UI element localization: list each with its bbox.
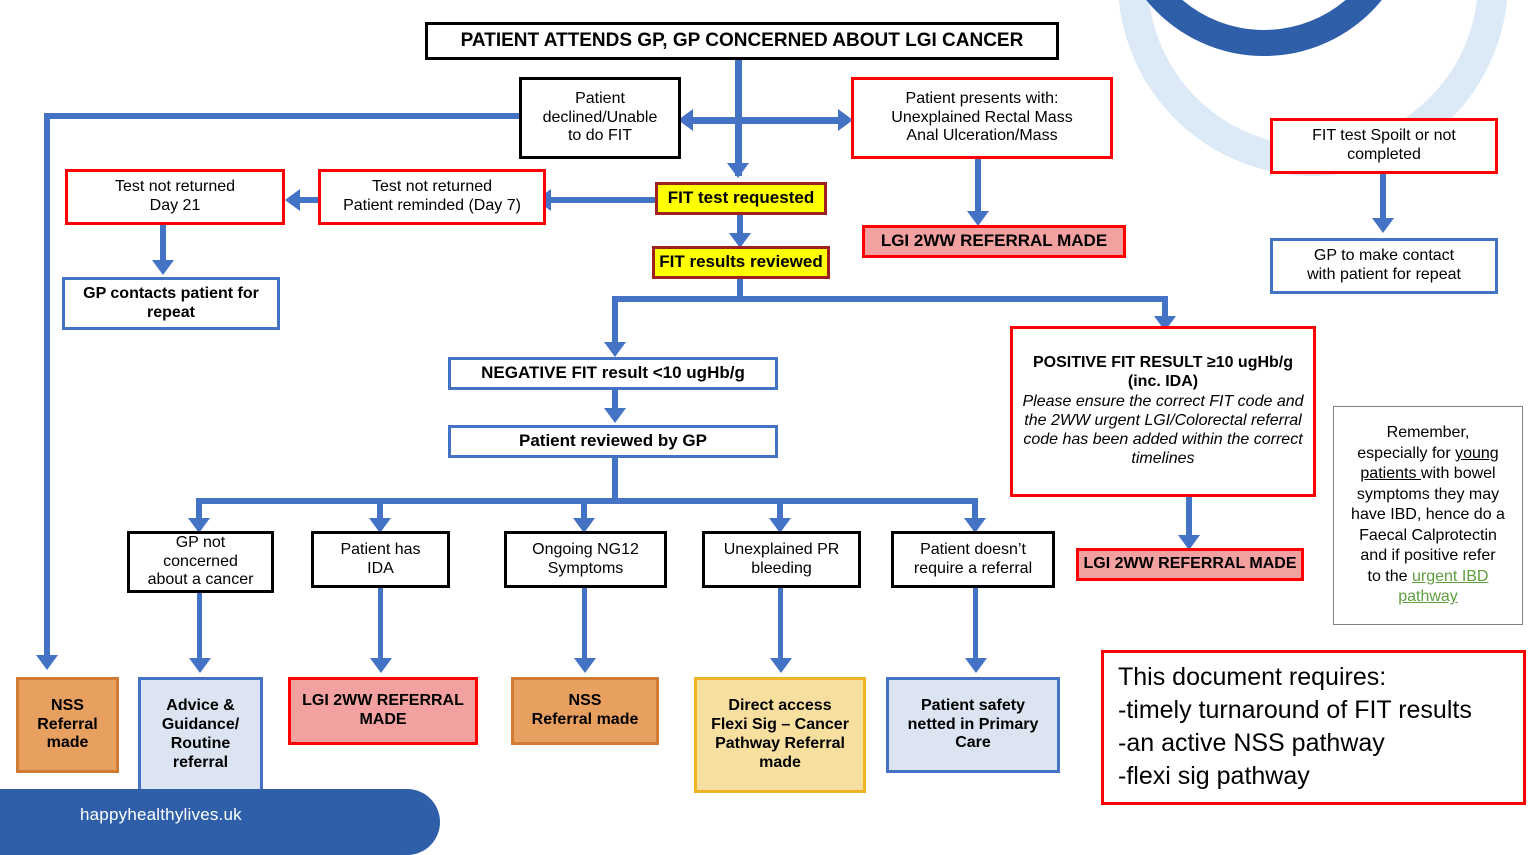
connector-presents-down (975, 159, 981, 215)
node-test-not-returned-day21[interactable]: Test not returned Day 21 (65, 169, 285, 225)
node-patient-presents-label: Patient presents with: Unexplained Recta… (854, 90, 1110, 147)
node-lgi-2ww-bottom-label: LGI 2WW REFERRAL MADE (291, 692, 475, 730)
connector-no-referral-down (973, 587, 978, 662)
remember-line8-pre: to the (1368, 568, 1412, 585)
urgent-ibd-pathway-link-cont[interactable]: pathway (1398, 588, 1458, 605)
node-flexi-sig-referral[interactable]: Direct access Flexi Sig – Cancer Pathway… (694, 677, 866, 793)
note-remember-text: Remember, especially for young patients … (1334, 423, 1522, 607)
remember-young-underline: young (1455, 445, 1499, 462)
node-nss-referral-left-label: NSS Referral made (19, 697, 116, 754)
node-test-not-returned-day21-label: Test not returned Day 21 (68, 178, 282, 216)
node-fit-results-reviewed-label: FIT results reviewed (655, 252, 827, 272)
connector-declined-left (47, 113, 525, 119)
remember-line6: Faecal Calprotectin (1359, 527, 1497, 544)
arrow-presents-to-lgi2ww (967, 211, 989, 226)
requires-item-0: -timely turnaround of FIT results (1118, 694, 1523, 727)
remember-patients-underline: patients (1360, 465, 1420, 482)
footer-site-label: happyhealthylives.uk (80, 805, 242, 825)
connector-positive-down (1186, 497, 1192, 539)
arrow-to-nss-mid (574, 658, 596, 673)
arrow-to-patient-safety (965, 658, 987, 673)
node-advice-guidance-label: Advice & Guidance/ Routine referral (141, 697, 260, 773)
connector-junction-horizontal (690, 117, 845, 124)
node-patient-declined-label: Patient declined/Unable to do FIT (522, 90, 678, 147)
arrow-to-nss-left (36, 655, 58, 670)
arrow-to-day21-box (285, 189, 300, 211)
connector-ida-down (378, 587, 383, 662)
remember-line5: have IBD, hence do a (1351, 506, 1505, 523)
node-lgi-2ww-bottom[interactable]: LGI 2WW REFERRAL MADE (288, 677, 478, 745)
connector-left-vertical (44, 113, 50, 661)
node-patient-has-ida[interactable]: Patient has IDA (311, 531, 450, 588)
node-ongoing-ng12-label: Ongoing NG12 Symptoms (507, 541, 664, 579)
connector-ng12-down (582, 587, 587, 662)
node-nss-referral-left[interactable]: NSS Referral made (16, 677, 119, 773)
arrow-to-flexi-sig (770, 658, 792, 673)
node-gp-contacts-patient-label: GP contacts patient for repeat (65, 285, 277, 323)
node-gp-make-contact-label: GP to make contact with patient for repe… (1273, 247, 1495, 285)
node-test-not-returned-day7[interactable]: Test not returned Patient reminded (Day … (318, 169, 546, 225)
node-pr-bleeding-label: Unexplained PR bleeding (705, 541, 858, 579)
node-patient-safety-netted[interactable]: Patient safety netted in Primary Care (886, 677, 1060, 773)
node-nss-referral-mid[interactable]: NSS Referral made (511, 677, 659, 745)
connector-fit-to-day7 (548, 197, 658, 203)
requires-list: This document requires: -timely turnarou… (1104, 653, 1523, 793)
node-lgi-2ww-right[interactable]: LGI 2WW REFERRAL MADE (1076, 548, 1304, 581)
remember-line4: symptoms they may (1357, 486, 1499, 503)
node-gp-contacts-patient[interactable]: GP contacts patient for repeat (62, 277, 280, 330)
node-lgi-2ww-top[interactable]: LGI 2WW REFERRAL MADE (862, 225, 1126, 258)
node-positive-fit-result[interactable]: POSITIVE FIT RESULT ≥10 ugHb/g (inc. IDA… (1010, 326, 1316, 497)
node-patient-reviewed-by-gp-label: Patient reviewed by GP (451, 431, 775, 451)
node-patient-declined[interactable]: Patient declined/Unable to do FIT (519, 77, 681, 159)
connector-split-left-down (612, 296, 618, 346)
node-negative-fit[interactable]: NEGATIVE FIT result <10 ugHb/g (448, 357, 778, 390)
node-flexi-sig-referral-label: Direct access Flexi Sig – Cancer Pathway… (697, 697, 863, 773)
node-fit-test-requested[interactable]: FIT test requested (655, 182, 827, 215)
connector-day21-down (160, 224, 166, 264)
node-negative-fit-label: NEGATIVE FIT result <10 ugHb/g (451, 363, 775, 383)
node-test-not-returned-day7-label: Test not returned Patient reminded (Day … (321, 178, 543, 216)
arrow-spoilt-to-gp-contact (1372, 218, 1394, 233)
requires-item-2: -flexi sig pathway (1118, 760, 1523, 793)
connector-split-bar (612, 296, 1168, 302)
node-patient-safety-netted-label: Patient safety netted in Primary Care (889, 697, 1057, 754)
arrow-to-fit-requested (727, 163, 749, 178)
remember-line1: Remember, (1387, 424, 1470, 441)
node-fit-results-reviewed[interactable]: FIT results reviewed (652, 246, 830, 279)
node-patient-has-ida-label: Patient has IDA (314, 541, 447, 579)
node-header-label: PATIENT ATTENDS GP, GP CONCERNED ABOUT L… (428, 30, 1056, 52)
connector-fan-bar (196, 498, 978, 504)
node-no-referral-required-label: Patient doesn’t require a referral (894, 541, 1052, 579)
connector-gp-not-concerned-down (197, 592, 202, 662)
arrow-to-advice-guidance (189, 658, 211, 673)
node-advice-guidance[interactable]: Advice & Guidance/ Routine referral (138, 677, 263, 793)
node-fit-spoilt-label: FIT test Spoilt or not completed (1273, 127, 1495, 165)
node-fit-test-requested-label: FIT test requested (658, 188, 824, 208)
node-pr-bleeding[interactable]: Unexplained PR bleeding (702, 531, 861, 588)
note-document-requires[interactable]: This document requires: -timely turnarou… (1101, 650, 1526, 805)
node-positive-fit-title: POSITIVE FIT RESULT ≥10 ugHb/g (inc. IDA… (1009, 354, 1317, 392)
remember-line3-post: with bowel (1421, 465, 1496, 482)
node-gp-make-contact[interactable]: GP to make contact with patient for repe… (1270, 238, 1498, 294)
node-no-referral-required[interactable]: Patient doesn’t require a referral (891, 531, 1055, 588)
node-fit-spoilt[interactable]: FIT test Spoilt or not completed (1270, 118, 1498, 174)
node-header[interactable]: PATIENT ATTENDS GP, GP CONCERNED ABOUT L… (425, 22, 1059, 60)
node-positive-fit-body: Please ensure the correct FIT code and t… (999, 393, 1327, 469)
node-lgi-2ww-top-label: LGI 2WW REFERRAL MADE (865, 231, 1123, 251)
remember-line2-pre: especially for (1357, 445, 1455, 462)
flowchart-canvas: PATIENT ATTENDS GP, GP CONCERNED ABOUT L… (0, 0, 1536, 855)
connector-pr-down (778, 587, 783, 662)
node-patient-reviewed-by-gp[interactable]: Patient reviewed by GP (448, 425, 778, 458)
arrow-to-lgi2ww-bottom (370, 658, 392, 673)
connector-reviewed-gp-down (612, 458, 618, 502)
node-nss-referral-mid-label: NSS Referral made (514, 692, 656, 730)
note-remember-ibd[interactable]: Remember, especially for young patients … (1333, 406, 1523, 625)
node-gp-not-concerned[interactable]: GP not concerned about a cancer (127, 531, 274, 593)
urgent-ibd-pathway-link[interactable]: urgent IBD (1412, 568, 1488, 585)
connector-spoilt-down (1380, 174, 1386, 222)
requires-item-1: -an active NSS pathway (1118, 727, 1523, 760)
node-patient-presents[interactable]: Patient presents with: Unexplained Recta… (851, 77, 1113, 159)
requires-heading: This document requires: (1118, 661, 1523, 694)
node-ongoing-ng12[interactable]: Ongoing NG12 Symptoms (504, 531, 667, 588)
footer-bar: happyhealthylives.uk (0, 789, 440, 855)
arrow-to-negative-fit (604, 342, 626, 357)
node-lgi-2ww-right-label: LGI 2WW REFERRAL MADE (1079, 555, 1301, 574)
arrow-day21-to-gp-contacts (152, 260, 174, 275)
arrow-negative-to-patient-reviewed (604, 408, 626, 423)
node-gp-not-concerned-label: GP not concerned about a cancer (130, 534, 271, 591)
remember-line7: and if positive refer (1360, 547, 1495, 564)
